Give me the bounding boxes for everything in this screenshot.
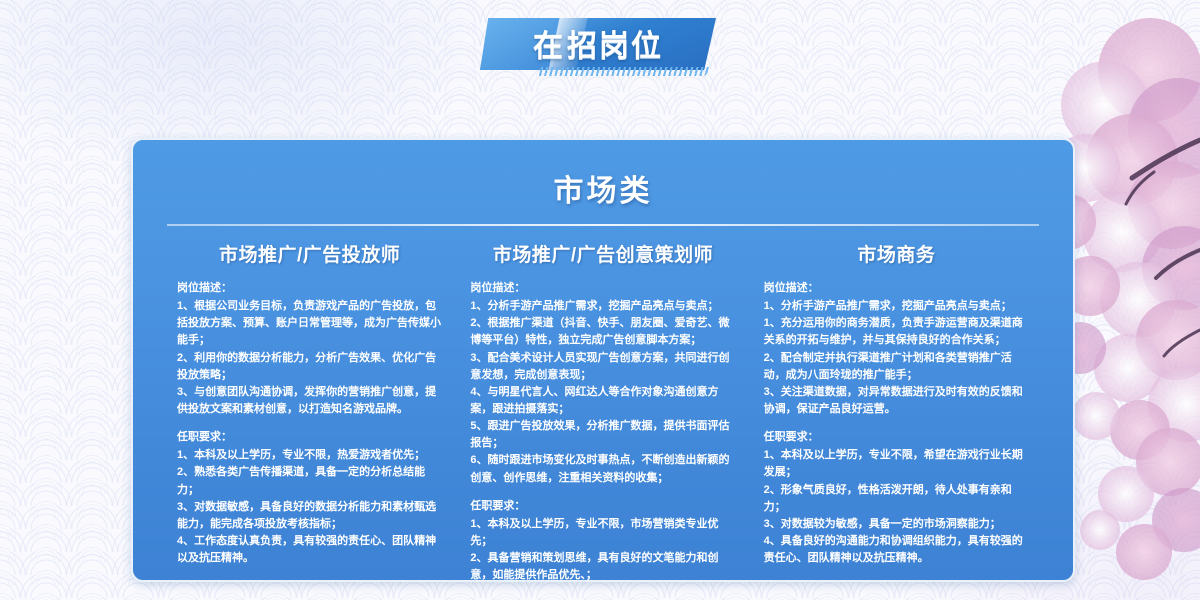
requirements-body: 1、本科及以上学历，专业不限，希望在游戏行业长期发展； 2、形象气质良好，性格活… [764,447,1029,567]
requirements-body: 1、本科及以上学历，专业不限，市场营销类专业优先； 2、具备营销和策划思维，具有… [470,516,735,582]
section-spacer [764,418,1029,429]
job-columns: 市场推广/广告投放师 岗位描述： 1、根据公司业务目标，负责游戏产品的广告投放，… [133,226,1073,582]
job-title: 市场商务 [764,240,1029,267]
requirements-label: 任职要求： [470,498,735,515]
banner-title-rest: 招岗位 [567,21,663,65]
section-spacer [470,487,735,498]
page-title: 市场类 [133,166,1073,210]
banner-stripe-underline [536,67,712,76]
description-label: 岗位描述： [764,280,1029,297]
job-title: 市场推广/广告创意策划师 [470,240,735,267]
content-panel: 市场类 市场推广/广告投放师 岗位描述： 1、根据公司业务目标，负责游戏产品的广… [131,138,1075,582]
description-body: 1、分析手游产品推广需求，挖掘产品亮点与卖点； 2、根据推广渠道（抖音、快手、朋… [470,298,735,487]
description-body: 1、分析手游产品推广需求，挖掘产品亮点与卖点； 1、充分运用你的商务潜质，负责手… [764,298,1029,418]
banner-title-first-char: 在 [533,21,565,65]
description-label: 岗位描述： [470,280,735,297]
requirements-label: 任职要求： [177,429,442,446]
page-banner: 在 招岗位 [480,18,716,70]
job-column-market-promotion-ad-delivery: 市场推广/广告投放师 岗位描述： 1、根据公司业务目标，负责游戏产品的广告投放，… [163,240,456,582]
requirements-label: 任职要求： [764,429,1029,446]
requirements-body: 1、本科及以上学历，专业不限，热爱游戏者优先； 2、熟悉各类广告传播渠道，具备一… [177,447,442,567]
description-body: 1、根据公司业务目标，负责游戏产品的广告投放，包括投放方案、预算、账户日常管理等… [177,298,442,418]
job-title: 市场推广/广告投放师 [177,240,442,267]
description-label: 岗位描述： [177,280,442,297]
job-column-market-business: 市场商务 岗位描述： 1、分析手游产品推广需求，挖掘产品亮点与卖点； 1、充分运… [750,240,1043,582]
poster-root: 在 招岗位 市场类 市场推广/广告投放师 岗位描述： 1、根据公司业务目标，负责… [0,0,1200,600]
job-column-market-promotion-ad-creative-planner: 市场推广/广告创意策划师 岗位描述： 1、分析手游产品推广需求，挖掘产品亮点与卖… [456,240,749,582]
banner-title: 在 招岗位 [480,18,716,70]
section-spacer [177,418,442,429]
